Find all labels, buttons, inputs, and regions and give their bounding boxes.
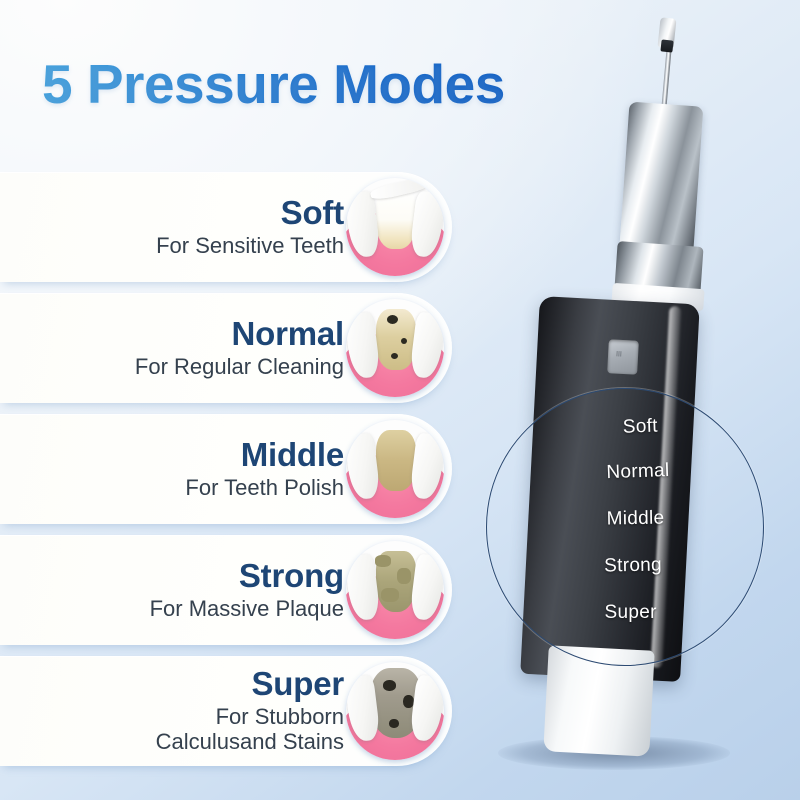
mode-row-soft[interactable]: Soft For Sensitive Teeth — [0, 172, 452, 282]
plaque-fragment — [375, 555, 391, 567]
tooth-calculus-stains-icon — [346, 662, 444, 760]
mode-description: For Massive Plaque — [150, 596, 344, 622]
plaque-fragment — [397, 568, 411, 584]
mode-text-group: Soft For Sensitive Teeth — [156, 172, 344, 282]
plaque-spot — [391, 353, 398, 359]
device-mode-label-middle: Middle — [560, 507, 710, 532]
device-white-band — [611, 283, 704, 311]
mode-description: For Sensitive Teeth — [156, 233, 344, 259]
device-chrome-collar — [614, 241, 703, 295]
scaler-tip-head — [657, 17, 676, 49]
device-handle-highlight — [651, 306, 682, 668]
mode-text-group: Middle For Teeth Polish — [185, 414, 344, 524]
device-white-base — [543, 645, 654, 756]
infographic-canvas: 5 Pressure Modes Soft For Sensitive Teet… — [0, 0, 800, 800]
device-black-handle — [520, 296, 700, 682]
mode-name: Middle — [241, 438, 344, 472]
device-mode-label-super: Super — [556, 602, 706, 624]
device-chrome-upper-body — [619, 102, 704, 265]
mode-description: For Stubborn — [216, 704, 344, 730]
mode-description: For Regular Cleaning — [135, 354, 344, 380]
tooth-clean-light-stain-icon — [346, 178, 444, 276]
device-mode-label-soft: Soft — [565, 414, 716, 441]
mode-text-group: Strong For Massive Plaque — [150, 535, 344, 645]
plaque-spot — [387, 315, 398, 324]
mode-row-super[interactable]: Super For Stubborn Calculusand Stains — [0, 656, 452, 766]
mode-row-normal[interactable]: Normal For Regular Cleaning — [0, 293, 452, 403]
device-drop-shadow — [498, 736, 730, 770]
device-mode-labels: Soft Normal Middle Strong Super — [554, 400, 717, 658]
tooth-plaque-spots-icon — [346, 299, 444, 397]
plaque-fragment — [381, 588, 399, 602]
device-mode-label-normal: Normal — [563, 458, 714, 485]
mode-row-strong[interactable]: Strong For Massive Plaque — [0, 535, 452, 645]
tooth-heavy-plaque-icon — [346, 541, 444, 639]
tooth-center — [376, 430, 415, 491]
stain-spot — [389, 719, 399, 728]
tooth-yellow-tartar-icon — [346, 420, 444, 518]
mode-text-group: Normal For Regular Cleaning — [135, 293, 344, 403]
power-mode-button[interactable]: ≡ — [607, 339, 639, 375]
magnifier-ring — [486, 388, 764, 666]
stain-spot — [383, 680, 396, 691]
mode-button-glyph: ≡ — [612, 350, 624, 357]
scaler-tip-joint — [660, 39, 673, 52]
pressure-mode-list: Soft For Sensitive Teeth Normal For Regu… — [0, 172, 452, 766]
device-mode-label-strong: Strong — [558, 554, 708, 579]
mode-text-group: Super For Stubborn Calculusand Stains — [156, 656, 344, 766]
mode-description: For Teeth Polish — [185, 475, 344, 501]
mode-name: Strong — [239, 559, 344, 593]
mode-description-line2: Calculusand Stains — [156, 729, 344, 755]
mode-row-middle[interactable]: Middle For Teeth Polish — [0, 414, 452, 524]
mode-name: Super — [251, 667, 344, 701]
page-title: 5 Pressure Modes — [42, 52, 505, 116]
scaler-needle-icon — [661, 24, 673, 110]
mode-name: Normal — [232, 317, 345, 351]
mode-name: Soft — [281, 196, 344, 230]
